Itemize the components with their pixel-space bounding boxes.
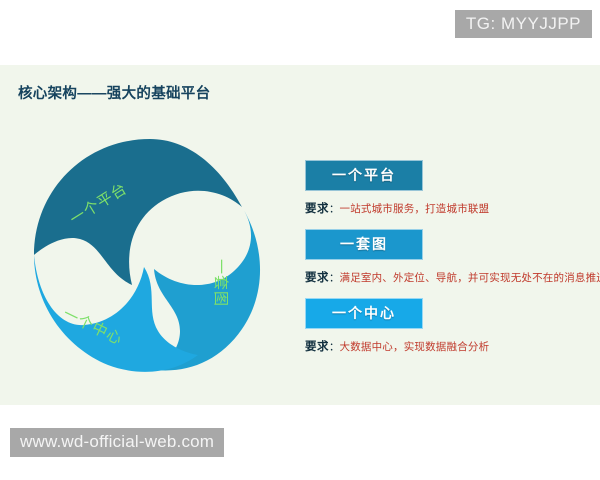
architecture-block-list: 一个平台 要求：一站式城市服务，打造城市联盟 一套图 要求：满足室内、外定位、导… [305, 160, 595, 367]
architecture-block-platform: 一个平台 要求：一站式城市服务，打造城市联盟 [305, 160, 595, 216]
swoosh-segment-platform: 一个平台 [34, 139, 242, 285]
requirement-value-center: 大数据中心，实现数据融合分析 [340, 341, 490, 353]
site-url-watermark-badge: www.wd-official-web.com [10, 428, 224, 457]
requirement-key-center: 要求 [305, 341, 329, 353]
requirement-separator-platform: ： [329, 203, 340, 215]
requirement-row-center: 要求：大数据中心，实现数据融合分析 [305, 338, 595, 354]
requirement-separator-center: ： [329, 341, 340, 353]
architecture-block-map: 一套图 要求：满足室内、外定位、导航，并可实现无处不在的消息推送 [305, 229, 595, 285]
pinwheel-diagram: 一个平台 一套图 一个中心 [28, 133, 272, 377]
slide-canvas: 核心架构——强大的基础平台 一个平台 一套图 一个中心 一个平台 要求：一站式城… [0, 65, 600, 405]
requirement-value-map: 满足室内、外定位、导航，并可实现无处不在的消息推送 [340, 272, 600, 284]
swoosh-shape-platform [34, 139, 242, 285]
requirement-separator-map: ： [329, 272, 340, 284]
requirement-row-platform: 要求：一站式城市服务，打造城市联盟 [305, 200, 595, 216]
requirement-key-map: 要求 [305, 272, 329, 284]
page-title: 核心架构——强大的基础平台 [18, 82, 210, 103]
requirement-row-map: 要求：满足室内、外定位、导航，并可实现无处不在的消息推送 [305, 269, 595, 285]
block-title-map: 一套图 [305, 229, 423, 260]
telegram-watermark-badge: TG: MYYJJPP [455, 10, 592, 38]
requirement-value-platform: 一站式城市服务，打造城市联盟 [340, 203, 490, 215]
block-title-center: 一个中心 [305, 298, 423, 329]
block-title-platform: 一个平台 [305, 160, 423, 191]
requirement-key-platform: 要求 [305, 203, 329, 215]
architecture-block-center: 一个中心 要求：大数据中心，实现数据融合分析 [305, 298, 595, 354]
swoosh-label-map: 一套图 [212, 259, 229, 307]
